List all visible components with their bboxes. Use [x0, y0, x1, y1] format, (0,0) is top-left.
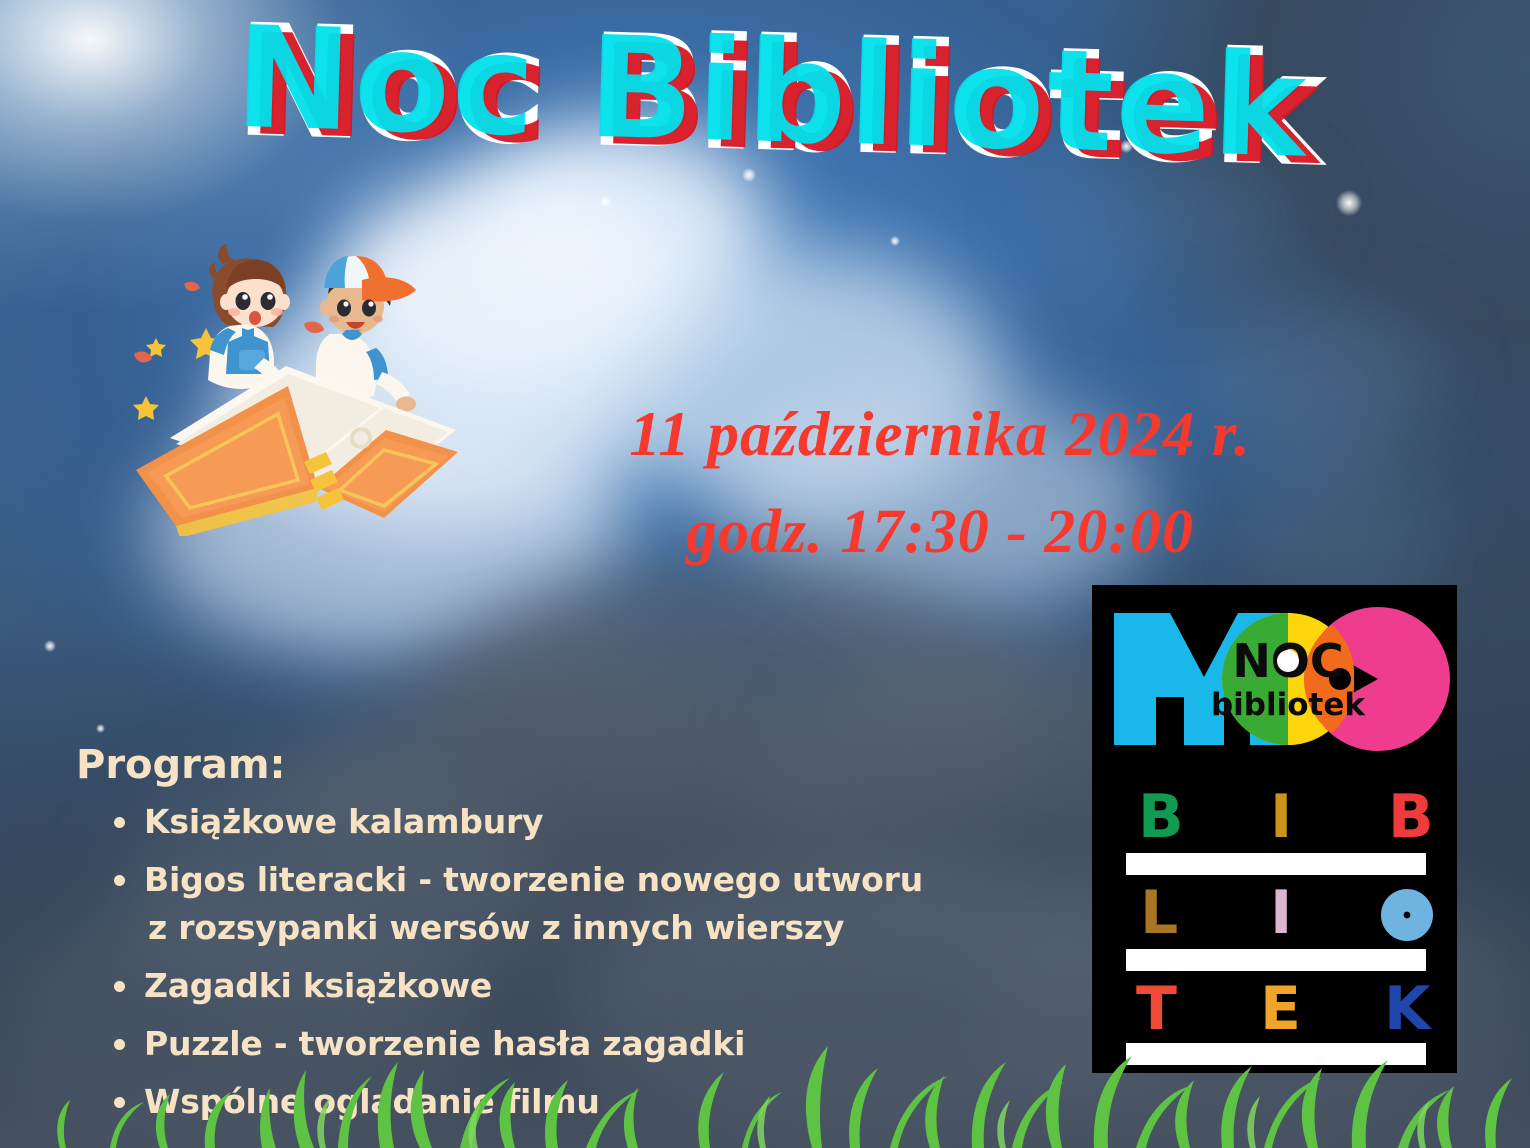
- star-icon: [44, 640, 56, 652]
- list-item: Bigos literacki - tworzenie nowego utwor…: [76, 856, 1036, 952]
- grid-letter-i1: I: [1270, 782, 1292, 852]
- list-item-label: Wspólne oglądanie filmu: [144, 1082, 600, 1121]
- grid-bar: [1126, 949, 1426, 971]
- list-item-label: Książkowe kalambury: [144, 802, 543, 841]
- grid-letter-o-center-dot: [1404, 912, 1411, 919]
- grid-letter-t: T: [1136, 974, 1177, 1044]
- star-icon: [96, 724, 105, 733]
- event-date-block: 11 października 2024 r. godz. 17:30 - 20…: [440, 385, 1440, 581]
- noc-bibliotek-logo: NOC bibliotek B I B L I T E K: [1092, 585, 1457, 1073]
- grid-bar: [1126, 1043, 1426, 1065]
- logo-bibliotek-text: bibliotek: [1211, 687, 1366, 723]
- grid-letter-i2: I: [1270, 878, 1292, 948]
- flying-book-illustration: [118, 226, 458, 536]
- list-item-label-continued: z rozsypanki wersów z innych wierszy: [144, 904, 1036, 952]
- list-item-label: Bigos literacki - tworzenie nowego utwor…: [144, 860, 923, 899]
- list-item-label: Zagadki książkowe: [144, 966, 492, 1005]
- program-list: Książkowe kalambury Bigos literacki - tw…: [76, 798, 1036, 1126]
- page-title: Noc Bibliotek: [76, 0, 1480, 202]
- bullet-icon: [114, 981, 125, 992]
- bullet-icon: [114, 1039, 125, 1050]
- program-section: Program: Książkowe kalambury Bigos liter…: [76, 738, 1036, 1136]
- list-item: Książkowe kalambury: [76, 798, 1036, 846]
- poster-canvas: Noc Bibliotek: [0, 0, 1530, 1148]
- bibliotek-letter-grid: B I B L I T E K: [1126, 782, 1434, 1065]
- list-item-label: Puzzle - tworzenie hasła zagadki: [144, 1024, 745, 1063]
- grid-bar: [1126, 853, 1426, 875]
- program-heading: Program:: [76, 738, 1036, 792]
- list-item: Puzzle - tworzenie hasła zagadki: [76, 1020, 1036, 1068]
- bullet-icon: [114, 1097, 125, 1108]
- event-time: godz. 17:30 - 20:00: [440, 483, 1440, 581]
- grid-letter-b2: B: [1388, 782, 1434, 852]
- list-item: Zagadki książkowe: [76, 962, 1036, 1010]
- grid-letter-e: E: [1260, 974, 1301, 1044]
- moon-dot-icon: [1277, 650, 1299, 672]
- list-item: Wspólne oglądanie filmu: [76, 1078, 1036, 1126]
- bullet-icon: [114, 875, 125, 886]
- star-icon: [890, 236, 900, 246]
- star-icon: [600, 196, 611, 207]
- bullet-icon: [114, 817, 125, 828]
- event-date: 11 października 2024 r.: [440, 385, 1440, 483]
- flying-open-book-icon: [136, 366, 458, 536]
- grid-letter-b1: B: [1138, 782, 1184, 852]
- grid-letter-k: K: [1384, 974, 1433, 1044]
- grid-letter-l: L: [1140, 878, 1178, 948]
